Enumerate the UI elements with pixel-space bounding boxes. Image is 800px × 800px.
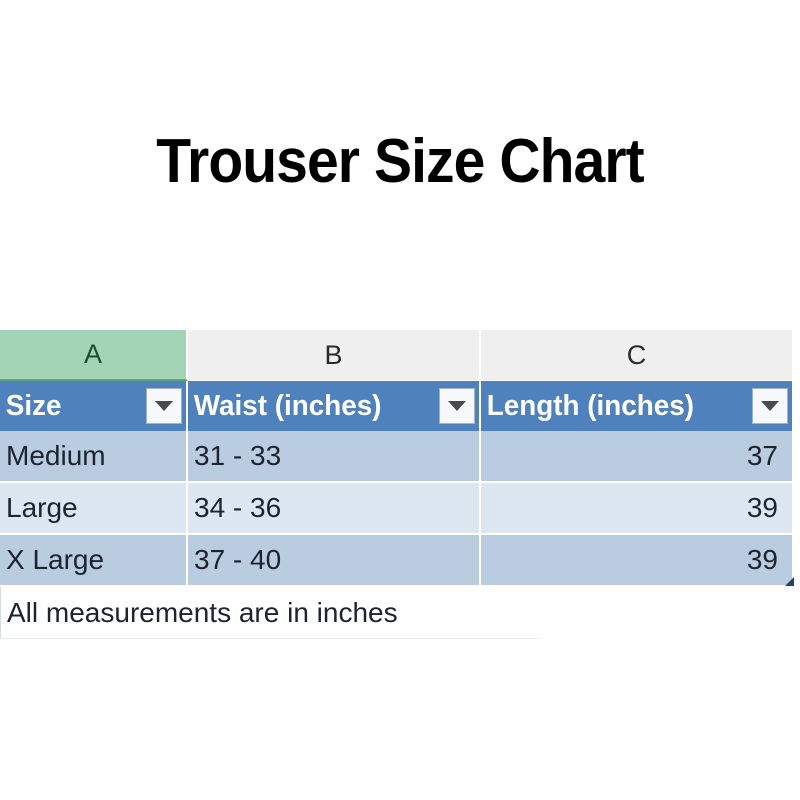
cell-waist[interactable]: 31 - 33 [188,431,481,483]
cell-length[interactable]: 39 [481,483,794,535]
cell-length[interactable]: 39 [481,535,794,587]
header-cell-waist[interactable]: Waist (inches) [188,381,481,431]
filter-dropdown-waist[interactable] [439,388,475,424]
spreadsheet-table: A B C Size Waist (inches) Length (inches… [0,330,794,639]
page-title: Trouser Size Chart [32,126,768,198]
table-row: X Large 37 - 40 39 [0,535,794,587]
header-label-waist: Waist (inches) [188,391,381,421]
footer-note[interactable]: All measurements are in inches [0,587,540,639]
column-header-b[interactable]: B [188,330,481,381]
column-header-c[interactable]: C [481,330,794,381]
chevron-down-icon [761,401,779,411]
chevron-down-icon [448,401,466,411]
cell-waist[interactable]: 34 - 36 [188,483,481,535]
column-header-a[interactable]: A [0,330,188,381]
header-label-size: Size [0,391,61,421]
cell-waist[interactable]: 37 - 40 [188,535,481,587]
table-row: Medium 31 - 33 37 [0,431,794,483]
header-cell-length[interactable]: Length (inches) [481,381,794,431]
table-row: Large 34 - 36 39 [0,483,794,535]
header-cell-size[interactable]: Size [0,381,188,431]
cell-length[interactable]: 37 [481,431,794,483]
header-label-length: Length (inches) [481,391,694,421]
filter-dropdown-length[interactable] [752,388,788,424]
chevron-down-icon [155,401,173,411]
cell-size[interactable]: Large [0,483,188,535]
table-footer-row: All measurements are in inches [0,587,794,639]
cell-size[interactable]: X Large [0,535,188,587]
cell-size[interactable]: Medium [0,431,188,483]
filter-dropdown-size[interactable] [146,388,182,424]
table-header-row: Size Waist (inches) Length (inches) [0,381,794,431]
column-letter-row: A B C [0,330,794,381]
